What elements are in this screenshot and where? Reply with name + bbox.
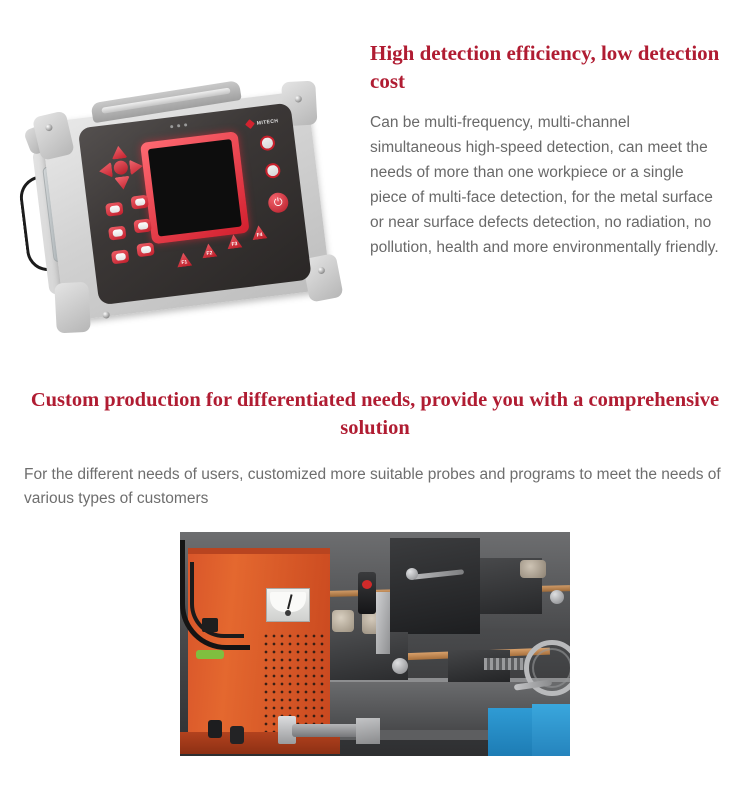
device-keypad-button[interactable] — [108, 226, 126, 241]
photo-cable-connector — [202, 618, 218, 632]
device-power-button[interactable]: ⏻ — [267, 192, 289, 214]
device-dpad[interactable] — [96, 143, 145, 192]
device-function-key-f3[interactable]: F3 — [226, 234, 243, 250]
dpad-left-icon[interactable] — [98, 162, 113, 179]
device-indicator-dots — [170, 123, 187, 128]
device-function-key-f4[interactable]: F4 — [251, 224, 268, 240]
photo-blue-machine-panel — [532, 704, 570, 756]
photo-guide-post — [376, 592, 390, 654]
photo-machine-foot — [208, 720, 222, 738]
photo-sensor-indicator — [362, 580, 372, 589]
fn-key-label: F1 — [181, 258, 188, 267]
custom-production-subtitle: For the different needs of users, custom… — [0, 463, 750, 511]
device-keypad-button[interactable] — [105, 202, 123, 217]
production-line-photo — [180, 532, 570, 756]
photo-test-coil — [520, 560, 546, 578]
feature-section-detection-efficiency: MITECH — [0, 0, 750, 372]
device-corner-bumper — [54, 282, 91, 334]
photo-analog-meter-knob — [285, 610, 291, 616]
device-brand-logo: MITECH — [247, 117, 279, 128]
device-screen — [148, 139, 242, 237]
photo-machine-foot — [230, 726, 244, 744]
device-side-button[interactable] — [259, 135, 276, 152]
product-feature-page: MITECH — [0, 0, 750, 802]
photo-spring-coupling — [484, 658, 528, 670]
flaw-detector-device: MITECH — [41, 90, 331, 321]
photo-lever-knob — [406, 568, 418, 580]
photo-adjust-knob — [550, 590, 564, 604]
dpad-up-icon[interactable] — [110, 145, 127, 160]
device-screen-bezel — [140, 131, 250, 244]
fn-key-label: F2 — [206, 249, 213, 258]
device-keypad-button[interactable] — [136, 242, 154, 257]
dpad-center-button[interactable] — [113, 160, 129, 176]
brand-mark-icon — [246, 119, 256, 129]
feature-heading: High detection efficiency, low detection… — [370, 40, 720, 96]
device-keypad-button[interactable] — [111, 249, 129, 264]
photo-shaft-block — [356, 718, 380, 744]
device-keypad-button[interactable] — [133, 218, 151, 233]
brand-name: MITECH — [256, 118, 278, 127]
photo-green-fitting — [196, 650, 224, 659]
fn-key-label: F3 — [231, 240, 238, 249]
feature-description: Can be multi-frequency, multi-channel si… — [370, 110, 720, 261]
device-function-key-f2[interactable]: F2 — [201, 243, 218, 259]
custom-production-heading: Custom production for differentiated nee… — [0, 386, 750, 443]
photo-metal-shaft — [292, 724, 362, 737]
device-keypad-button[interactable] — [130, 195, 148, 210]
photo-test-coil — [332, 610, 354, 632]
fn-key-label: F4 — [256, 231, 263, 240]
photo-adjust-knob — [392, 658, 408, 674]
power-icon: ⏻ — [273, 197, 283, 209]
device-front-panel: MITECH — [78, 103, 312, 306]
dpad-right-icon[interactable] — [129, 158, 144, 175]
photo-black-housing — [390, 538, 480, 634]
feature-section-custom-production: Custom production for differentiated nee… — [0, 386, 750, 511]
feature-text-block: High detection efficiency, low detection… — [370, 40, 720, 261]
flaw-detector-product-image: MITECH — [30, 88, 350, 348]
device-side-button[interactable] — [264, 162, 281, 179]
device-function-key-f1[interactable]: F1 — [176, 252, 193, 268]
device-screw — [102, 311, 110, 319]
photo-probe-sensor — [358, 572, 376, 614]
dpad-down-icon[interactable] — [114, 176, 131, 191]
